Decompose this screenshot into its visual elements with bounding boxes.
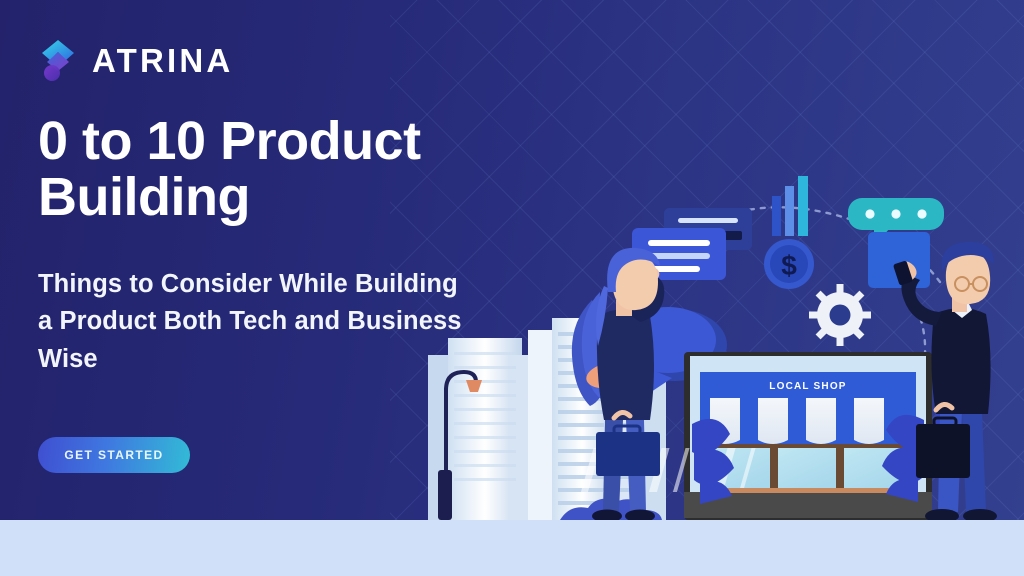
bar-chart-icon xyxy=(772,176,808,236)
shop-sign-label: LOCAL SHOP xyxy=(769,381,846,392)
atrina-diamond-logo-icon xyxy=(38,38,80,84)
gear-icon xyxy=(809,284,871,346)
svg-text:$: $ xyxy=(781,250,797,281)
hero-illustration: $ xyxy=(400,0,1024,576)
page-title: 0 to 10 Product Building xyxy=(38,113,558,225)
brand-logo[interactable]: ATRINA xyxy=(38,38,233,84)
dollar-coin-icon: $ xyxy=(764,239,814,289)
page-subtitle: Things to Consider While Building a Prod… xyxy=(38,266,468,378)
brand-name: ATRINA xyxy=(92,42,233,80)
hero-banner: $ xyxy=(0,0,1024,576)
ground-band xyxy=(0,520,1024,576)
get-started-button[interactable]: GET STARTED xyxy=(38,437,190,473)
